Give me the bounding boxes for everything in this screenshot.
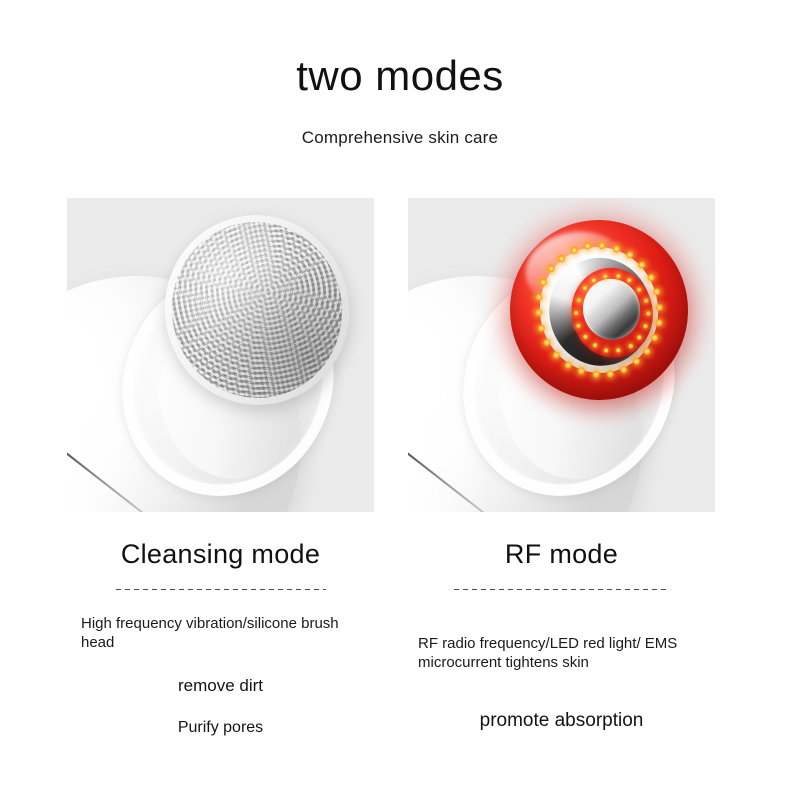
silicone-brush-head-icon	[156, 206, 359, 413]
brush-bristle-face	[156, 206, 359, 413]
rf-description: RF radio frequency/LED red light/ EMS mi…	[408, 634, 715, 672]
mode-card-rf: RF mode RF radio frequency/LED red light…	[408, 198, 715, 733]
rf-divider	[454, 589, 669, 590]
rf-benefit-1: promote absorption	[408, 710, 715, 733]
led-dot-icon	[591, 277, 597, 283]
cleansing-benefit-2: Purify pores	[67, 718, 374, 737]
led-dot-icon	[592, 343, 598, 349]
led-dot-icon	[615, 273, 621, 279]
led-dot-icon	[636, 286, 642, 292]
rf-ring-head-icon	[496, 206, 703, 414]
led-dot-icon	[643, 324, 649, 330]
cleansing-caption: Cleansing mode High frequency vibration/…	[67, 512, 374, 738]
page-subtitle: Comprehensive skin care	[0, 128, 800, 148]
led-dot-icon	[603, 347, 609, 353]
rf-caption: RF mode RF radio frequency/LED red light…	[408, 512, 715, 733]
cleansing-divider	[116, 589, 326, 590]
page-title: two modes	[0, 54, 800, 98]
cleansing-mode-photo	[67, 198, 374, 512]
led-dot-icon	[627, 343, 633, 349]
rf-inner-led-ring	[496, 206, 703, 414]
led-dot-icon	[576, 297, 582, 303]
led-dot-icon	[582, 334, 588, 340]
led-dot-icon	[643, 298, 649, 304]
led-dot-icon	[637, 335, 643, 341]
led-dot-icon	[574, 310, 580, 316]
led-dot-icon	[576, 323, 582, 329]
page-root: { "header": { "title": "two modes", "sub…	[0, 0, 800, 800]
led-dot-icon	[603, 273, 609, 279]
led-dot-icon	[616, 347, 622, 353]
rf-mode-heading: RF mode	[408, 540, 715, 570]
cleansing-benefit-1: remove dirt	[67, 676, 374, 696]
cleansing-description: High frequency vibration/silicone brush …	[67, 614, 374, 652]
led-dot-icon	[582, 286, 588, 292]
modes-row: Cleansing mode High frequency vibration/…	[0, 198, 800, 758]
mode-card-cleansing: Cleansing mode High frequency vibration/…	[67, 198, 374, 738]
led-dot-icon	[627, 278, 633, 284]
led-dot-icon	[645, 311, 651, 317]
rf-mode-photo	[408, 198, 715, 512]
cleansing-mode-heading: Cleansing mode	[67, 540, 374, 570]
